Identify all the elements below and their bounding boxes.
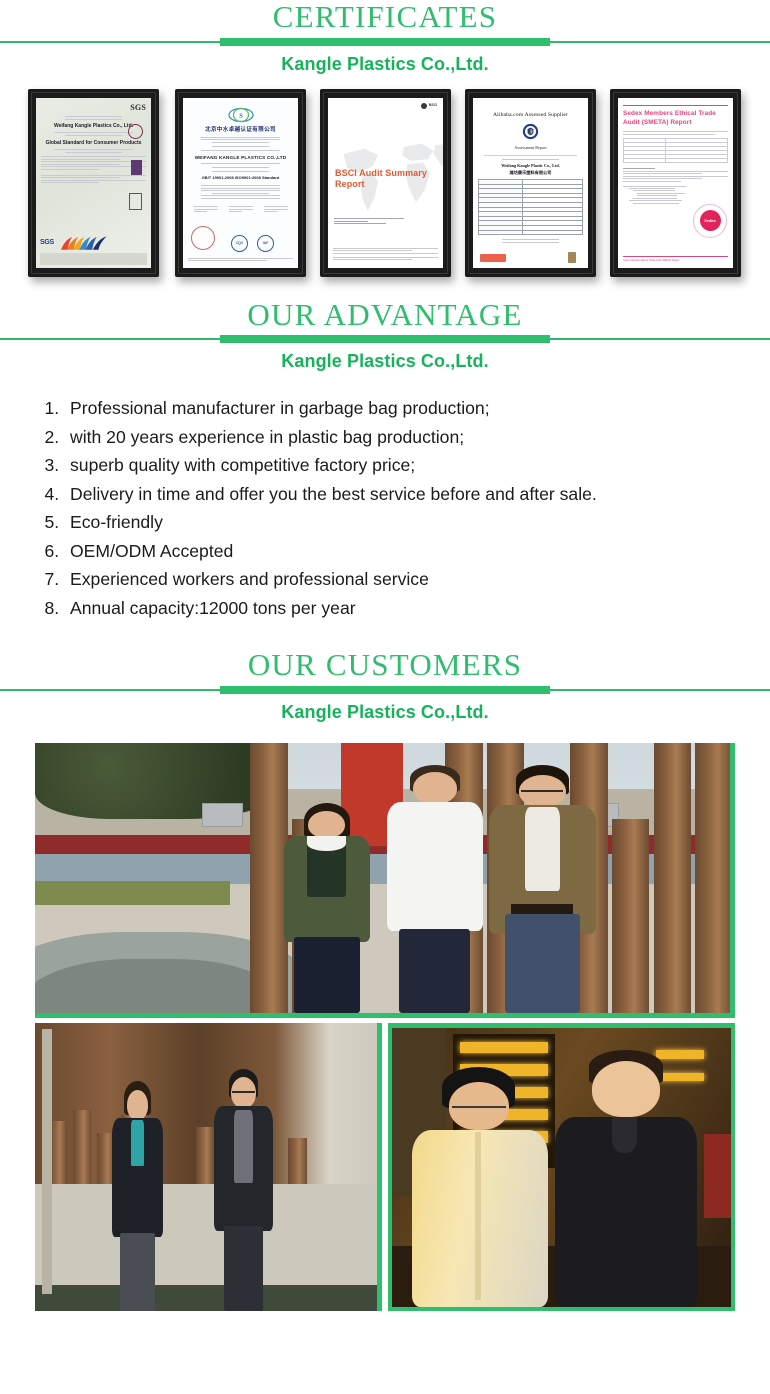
advantage-content: Professional manufacturer in garbage bag… — [0, 372, 770, 622]
list-item: with 20 years experience in plastic bag … — [64, 423, 742, 452]
list-item: Delivery in time and offer you the best … — [64, 480, 742, 509]
certificate-image-sedex: Sedex Members Ethical Trade Audit (SMETA… — [618, 98, 733, 268]
customers-section-header: OUR CUSTOMERS Kangle Plastics Co.,Ltd. — [0, 648, 770, 723]
advantage-title: OUR ADVANTAGE — [0, 298, 770, 336]
sedex-headline: Sedex Members Ethical Trade Audit (SMETA… — [623, 110, 728, 127]
alibaba-company-name-cn: 潍坊康乐塑料有限公司 — [478, 170, 583, 177]
cqc-issuer-cn: 北京中水卓越认证有限公司 — [188, 126, 293, 135]
customers-title: OUR CUSTOMERS — [0, 648, 770, 686]
list-item: superb quality with competitive factory … — [64, 451, 742, 480]
certificate-image-bsci: BSCI BSCI Audit Summary Report — [328, 98, 443, 268]
bsci-headline: BSCI Audit Summary Report — [335, 168, 443, 190]
customers-gallery — [0, 723, 770, 1311]
advantage-subtitle: Kangle Plastics Co.,Ltd. — [0, 344, 770, 372]
cqc-logo-icon: S — [228, 107, 254, 123]
cqc-company-name: WEIFANG KANGLE PLASTICS CO.,LTD — [188, 154, 293, 161]
sgs-headline: Global Standard for Consumer Products — [41, 140, 146, 147]
certificates-section-header: CERTIFICATES Kangle Plastics Co.,Ltd. — [0, 0, 770, 75]
certificate-frame-sedex[interactable]: Sedex Members Ethical Trade Audit (SMETA… — [610, 89, 741, 277]
certificates-subtitle: Kangle Plastics Co.,Ltd. — [0, 47, 770, 75]
advantage-divider — [0, 335, 770, 344]
list-item: Experienced workers and professional ser… — [64, 565, 742, 594]
alibaba-shield-icon — [522, 123, 539, 140]
divider-thick-bar — [220, 335, 550, 343]
customer-photo-two-men-indoors[interactable] — [388, 1023, 735, 1311]
certificates-title: CERTIFICATES — [0, 0, 770, 38]
cqc-standard: GB/T 19001-2008 ISO9001:2008 Standard — [188, 175, 293, 181]
certificate-image-alibaba: Alibaba.com Assessed Supplier Assessment… — [473, 98, 588, 268]
alibaba-headline: Alibaba.com Assessed Supplier — [478, 111, 583, 120]
customer-photo-group-of-three-outdoors[interactable] — [35, 743, 735, 1018]
sedex-seal-icon: Sedex — [693, 204, 727, 238]
customer-photo-two-people-outdoors[interactable] — [35, 1023, 382, 1311]
certificate-frame-cqc[interactable]: S 北京中水卓越认证有限公司 WEIFANG KANGLE PLASTICS C… — [175, 89, 306, 277]
sedex-seal-label: Sedex — [700, 210, 721, 231]
customer-photo-row — [35, 1023, 735, 1311]
sgs-brand-mark: SGS — [130, 102, 146, 114]
divider-thick-bar — [220, 686, 550, 694]
list-item: Eco-friendly — [64, 508, 742, 537]
customers-subtitle: Kangle Plastics Co.,Ltd. — [0, 695, 770, 723]
bsci-issuer-label: BSCI — [429, 103, 437, 108]
svg-text:S: S — [239, 112, 243, 119]
sgs-rainbow-graphic — [40, 235, 114, 251]
certificate-image-cqc: S 北京中水卓越认证有限公司 WEIFANG KANGLE PLASTICS C… — [183, 98, 298, 268]
certificates-gallery: SGS Weifang Kangle Plastics Co., Ltd. Gl… — [0, 81, 770, 286]
customers-divider — [0, 686, 770, 695]
certificate-frame-bsci[interactable]: BSCI BSCI Audit Summary Report — [320, 89, 451, 277]
sedex-details-table — [623, 138, 728, 163]
advantage-list: Professional manufacturer in garbage bag… — [0, 394, 770, 622]
certificate-frame-sgs[interactable]: SGS Weifang Kangle Plastics Co., Ltd. Gl… — [28, 89, 159, 277]
certificate-image-sgs: SGS Weifang Kangle Plastics Co., Ltd. Gl… — [36, 98, 151, 268]
list-item: OEM/ODM Accepted — [64, 537, 742, 566]
certificates-divider — [0, 38, 770, 47]
list-item: Annual capacity:12000 tons per year — [64, 594, 742, 623]
list-item: Professional manufacturer in garbage bag… — [64, 394, 742, 423]
advantage-section-header: OUR ADVANTAGE Kangle Plastics Co.,Ltd. — [0, 298, 770, 373]
alibaba-details-table — [478, 179, 583, 235]
divider-thick-bar — [220, 38, 550, 46]
alibaba-subheadline: Assessment Report — [478, 145, 583, 152]
certificate-frame-alibaba[interactable]: Alibaba.com Assessed Supplier Assessment… — [465, 89, 596, 277]
